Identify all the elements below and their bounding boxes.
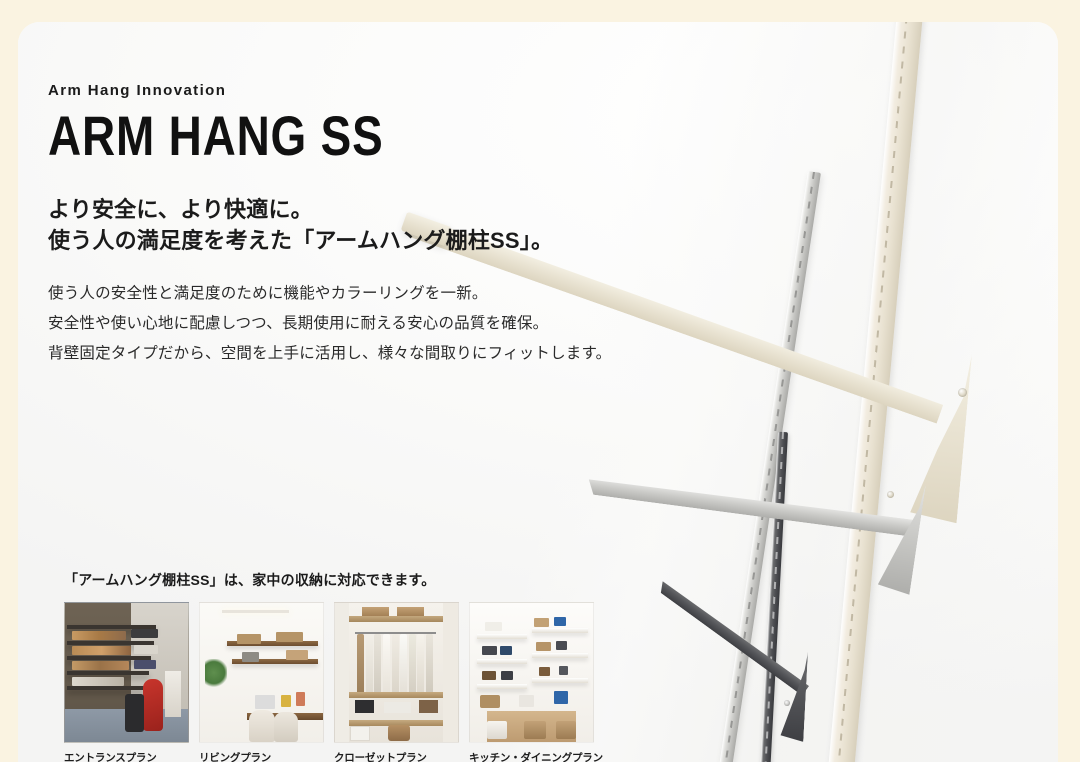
plans-section: 「アームハング棚柱SS」は、家中の収納に対応できます。: [64, 570, 594, 762]
hero-eyebrow: Arm Hang Innovation: [48, 82, 668, 99]
hero-text-block: Arm Hang Innovation ARM HANG SS より安全に、より…: [48, 82, 668, 369]
plan-thumbnail-closet[interactable]: [334, 602, 459, 743]
plan-label-closet: クローゼットプラン: [334, 750, 459, 762]
plan-item-closet[interactable]: クローゼットプラン: [334, 602, 459, 762]
page-root: Arm Hang Innovation ARM HANG SS より安全に、より…: [0, 0, 1080, 762]
plan-item-entrance[interactable]: エントランスプラン: [64, 602, 189, 762]
page-title: ARM HANG SS: [48, 107, 556, 164]
plan-item-living[interactable]: リビングプラン: [199, 602, 324, 762]
hero-body-line-3: 背壁固定タイプだから、空間を上手に活用し、様々な間取りにフィットします。: [48, 339, 668, 369]
bracket-screw-ivory: [958, 388, 967, 397]
plan-label-kitchen-dining: キッチン・ダイニングプラン: [469, 750, 594, 762]
plans-caption: 「アームハング棚柱SS」は、家中の収納に対応できます。: [64, 570, 594, 590]
bracket-screw-silver: [887, 491, 894, 498]
hero-subheading-line-1: より安全に、より快適に。: [48, 194, 668, 225]
hero-body-line-2: 安全性や使い心地に配慮しつつ、長期使用に耐える安心の品質を確保。: [48, 309, 668, 339]
hero-subheading-line-2: 使う人の満足度を考えた「アームハング棚柱SS」。: [48, 225, 668, 256]
hero-body: 使う人の安全性と満足度のために機能やカラーリングを一新。 安全性や使い心地に配慮…: [48, 279, 668, 370]
plan-label-living: リビングプラン: [199, 750, 324, 762]
hero-card: Arm Hang Innovation ARM HANG SS より安全に、より…: [18, 22, 1058, 762]
plan-item-kitchen-dining[interactable]: キッチン・ダイニングプラン: [469, 602, 594, 762]
plan-thumbnail-entrance[interactable]: [64, 602, 189, 743]
hero-body-line-1: 使う人の安全性と満足度のために機能やカラーリングを一新。: [48, 279, 668, 309]
plan-label-entrance: エントランスプラン: [64, 750, 189, 762]
hero-subheading: より安全に、より快適に。 使う人の満足度を考えた「アームハング棚柱SS」。: [48, 194, 668, 256]
plan-thumbnail-living[interactable]: [199, 602, 324, 743]
plan-thumbnail-row: エントランスプラン: [64, 602, 594, 762]
plan-thumbnail-kitchen-dining[interactable]: [469, 602, 594, 743]
bracket-screw-dark: [784, 700, 790, 706]
